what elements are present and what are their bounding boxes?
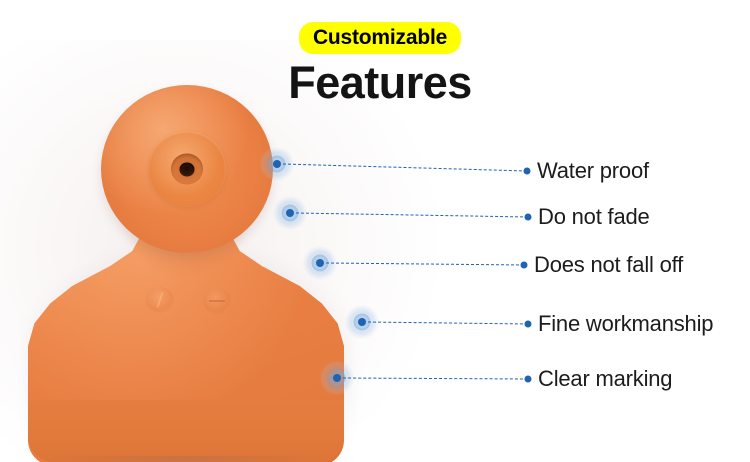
callout-label-clear-marking: Clear marking — [538, 366, 672, 392]
marker-core-icon — [333, 374, 341, 382]
callout-end-dot-icon — [521, 262, 528, 269]
callout-label-does-not-fall-off: Does not fall off — [534, 252, 683, 278]
callout-label-water-proof: Water proof — [537, 158, 649, 184]
callout-label-fine-workmanship: Fine workmanship — [538, 311, 713, 337]
callout-end-dot-icon — [525, 376, 532, 383]
marker-core-icon — [286, 209, 294, 217]
promo-feature-graphic: Customizable Features Water proofDo not … — [0, 0, 750, 462]
callout-end-dot-icon — [525, 321, 532, 328]
callout-dashed-connector — [368, 322, 528, 325]
callout-dashed-connector — [343, 378, 528, 380]
callout-end-dot-icon — [524, 168, 531, 175]
callout-label-do-not-fade: Do not fade — [538, 204, 650, 230]
marker-core-icon — [358, 318, 366, 326]
callout-dashed-connector — [283, 164, 527, 172]
callout-dashed-connector — [296, 213, 528, 218]
feature-callout-list: Water proofDo not fadeDoes not fall offF… — [0, 0, 750, 462]
callout-end-dot-icon — [525, 214, 532, 221]
marker-core-icon — [273, 160, 281, 168]
marker-core-icon — [316, 259, 324, 267]
callout-dashed-connector — [326, 263, 524, 266]
